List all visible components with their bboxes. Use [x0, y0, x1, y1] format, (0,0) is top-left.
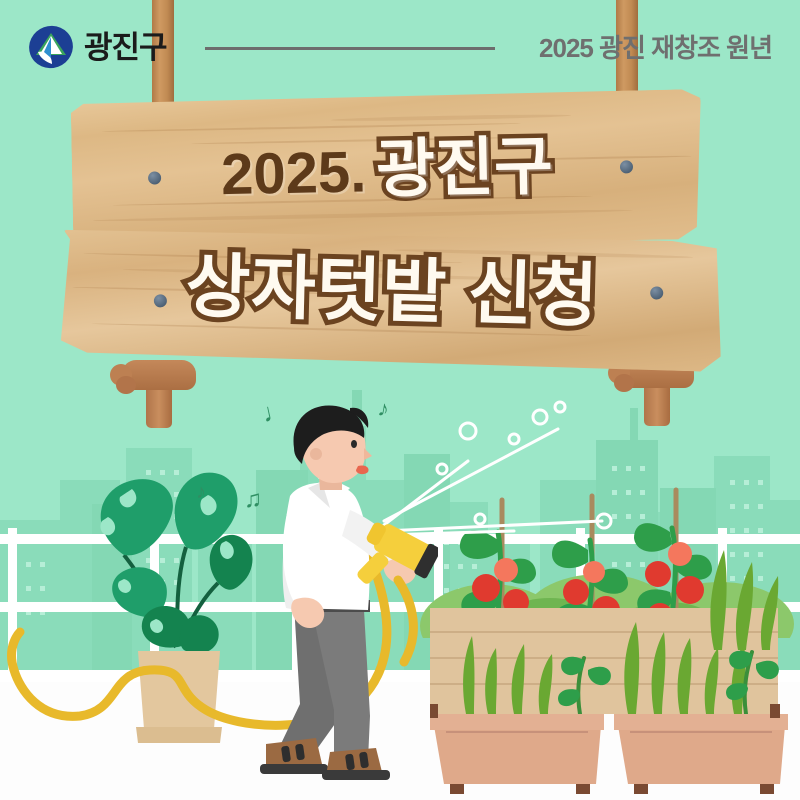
poster-canvas: 2025.광진구 상자텃밭 신청 ♩ ♪ ♫ ♪ [0, 0, 800, 800]
music-note-icon: ♪ [196, 482, 206, 502]
sign-support-left [122, 360, 196, 428]
sign-year-label: 2025. [221, 139, 367, 207]
man-watering-plants [238, 404, 438, 800]
page-header: 광진구 2025 광진 재창조 원년 [0, 0, 800, 92]
sign-top-text: 2025.광진구 [71, 131, 702, 207]
sign-board-bottom: 상자텃밭 신청 [61, 226, 724, 372]
sign-district-label: 광진구 [376, 130, 554, 205]
sign-board-top: 2025.광진구 [71, 89, 704, 251]
grass-cluster-right [690, 540, 800, 650]
brand-name: 광진구 [84, 32, 167, 63]
sign-bottom-text: 상자텃밭 신청 [61, 248, 723, 334]
header-slogan: 2025 광진 재창조 원년 [539, 28, 772, 65]
gwangjin-gu-emblem-icon [28, 24, 74, 70]
brand-logo[interactable]: 광진구 [28, 24, 167, 70]
header-divider [205, 47, 495, 50]
